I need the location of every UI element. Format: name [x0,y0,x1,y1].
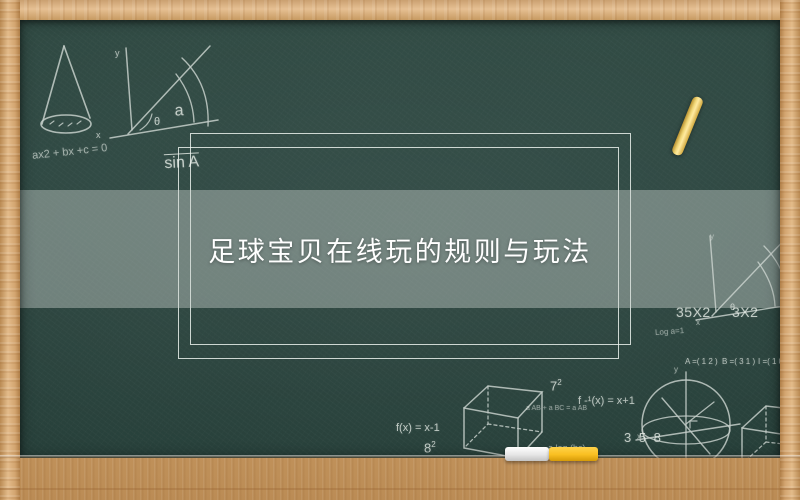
division-block: 3 5 8 2 7 9 6 3 7 [624,398,663,458]
formula-eight-squared: 82 [424,440,436,455]
sphere-axis-y: y [674,365,678,374]
cone-drawing [28,38,114,148]
matrix-b: B =( 3 1 ) [722,357,755,366]
ledge-chalk-white [505,447,549,461]
formula-quadratic: ax2 + bx +c = 0 [32,142,108,162]
matrix-a: A =( 1 2 ) [685,357,718,366]
page-title: 足球宝贝在线玩的规则与玩法 [20,190,780,308]
theta-label-topleft: θ [154,116,160,128]
formula-log-a1: Log a=1 [655,326,685,337]
frame-rail-bottom-ledge [0,458,800,500]
ledge-chalk-yellow [549,447,598,461]
wall-chalk-stick [671,95,704,157]
matrix-i: I =( 1 0 ) [758,357,780,366]
formula-abc-identity: a AB + a BC = a AB [526,405,587,412]
blackboard-frame: a sin A y x θ ax2 + bx +c = 0 [0,0,800,500]
axis-label-x-topleft: x [96,130,101,140]
cube-drawing-right [738,398,780,458]
frame-ledge-highlight [0,455,800,458]
frame-rail-top [0,0,800,20]
axis-label-y-topleft: y [115,48,120,58]
frame-rail-left [0,0,20,500]
frame-rail-right [780,0,800,500]
frame-ledge-groove [0,488,800,490]
division-row-1: 3 5 8 [624,430,663,446]
formula-seven-squared: 72 [550,378,562,393]
chalkboard-surface: a sin A y x θ ax2 + bx +c = 0 [20,20,780,458]
